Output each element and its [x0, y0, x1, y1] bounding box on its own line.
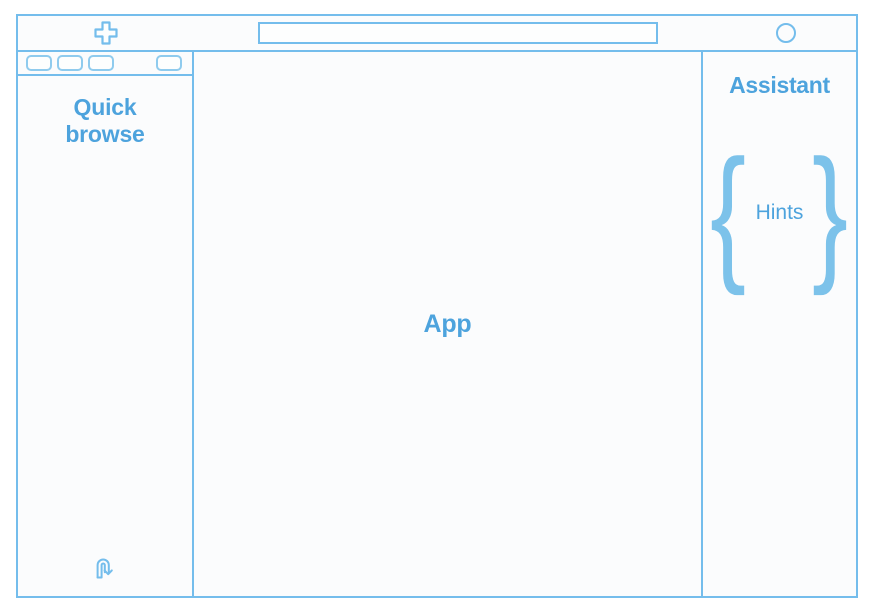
tool-button-4[interactable] [156, 55, 182, 71]
sidebar-toolbar [18, 52, 192, 76]
sidebar-footer [18, 544, 192, 596]
assistant-panel: Assistant { Hints } [703, 52, 856, 596]
circle-icon [776, 23, 796, 43]
account-button[interactable] [716, 16, 856, 50]
left-brace-icon: { [710, 151, 746, 274]
wireframe-window: Quick browse App Assistant [16, 14, 858, 598]
u-turn-arrow-icon[interactable] [90, 553, 120, 588]
hints-label: Hints [754, 201, 806, 225]
search-input[interactable] [258, 22, 658, 44]
sidebar-content: Quick browse [18, 76, 192, 596]
add-button[interactable] [18, 16, 194, 50]
hints-block: { Hints } [703, 151, 856, 274]
quick-browse-title: Quick browse [18, 94, 192, 148]
assistant-title: Assistant [729, 72, 830, 99]
plus-icon [93, 20, 119, 46]
app-area[interactable]: App [194, 52, 703, 596]
header-bar [18, 16, 856, 52]
tool-button-1[interactable] [26, 55, 52, 71]
tool-button-3[interactable] [88, 55, 114, 71]
window-body: Quick browse App Assistant [18, 52, 856, 596]
app-label: App [424, 310, 472, 339]
right-brace-icon: } [812, 151, 848, 274]
sidebar: Quick browse [18, 52, 194, 596]
tool-button-2[interactable] [57, 55, 83, 71]
